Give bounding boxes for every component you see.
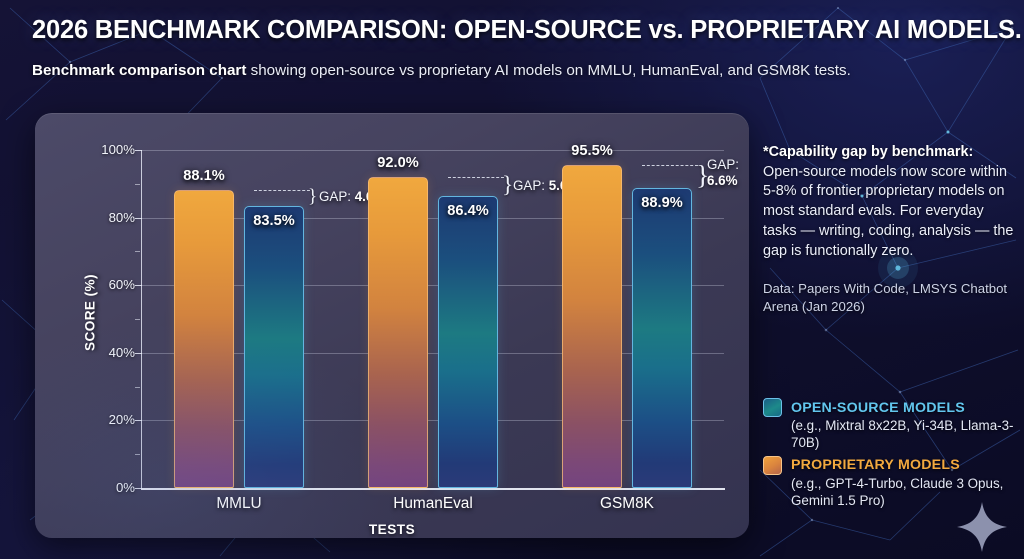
y-tick-minor bbox=[135, 184, 140, 185]
y-axis-tick-label: 60% bbox=[109, 277, 135, 292]
page-subtitle: Benchmark comparison chart showing open-… bbox=[32, 62, 1012, 79]
capability-gap-note: *Capability gap by benchmark: Open-sourc… bbox=[763, 143, 1015, 261]
bar-value-label: 88.9% bbox=[641, 195, 682, 211]
y-axis-tick-label: 100% bbox=[101, 142, 135, 157]
bar-prop-gsm8k[interactable]: 95.5% bbox=[562, 165, 622, 488]
plot-area: 88.1%83.5%}GAP: 4.6%92.0%86.4%}GAP: 5.6%… bbox=[142, 150, 724, 488]
y-tick-minor bbox=[135, 251, 140, 252]
gap-dashed-line bbox=[254, 190, 310, 191]
bar-value-label: 83.5% bbox=[253, 213, 294, 229]
bar-prop-humaneval[interactable]: 92.0% bbox=[368, 177, 428, 488]
y-tick-major bbox=[135, 285, 142, 286]
y-tick-major bbox=[135, 420, 142, 421]
chart-legend: OPEN-SOURCE MODELS(e.g., Mixtral 8x22B, … bbox=[763, 398, 1019, 514]
bar-value-label: 92.0% bbox=[377, 155, 418, 171]
gap-annotation: GAP:6.6% bbox=[707, 157, 739, 189]
gap-dashed-line bbox=[448, 177, 504, 178]
legend-swatch-icon bbox=[763, 398, 782, 417]
gap-label-text: GAP: bbox=[319, 189, 355, 204]
chart-panel: SCORE (%) 0%20%40%60%80%100% 88.1%83.5%}… bbox=[35, 113, 749, 538]
legend-entry[interactable]: OPEN-SOURCE MODELS(e.g., Mixtral 8x22B, … bbox=[763, 398, 1019, 452]
gap-dashed-line bbox=[642, 165, 698, 166]
y-tick-major bbox=[135, 150, 142, 151]
capability-gap-note-body: Open-source models now score within 5-8%… bbox=[763, 164, 1013, 259]
y-tick-minor bbox=[135, 454, 140, 455]
gridline bbox=[142, 150, 724, 151]
side-note-panel: *Capability gap by benchmark: Open-sourc… bbox=[763, 143, 1015, 316]
y-axis-labels: 0%20%40%60%80%100% bbox=[83, 113, 135, 538]
x-axis-title: TESTS bbox=[35, 522, 749, 537]
y-axis-tick-label: 80% bbox=[109, 210, 135, 225]
legend-title: OPEN-SOURCE MODELS bbox=[791, 400, 965, 416]
gap-brace-icon: } bbox=[502, 174, 513, 193]
header-block: 2026 BENCHMARK COMPARISON: OPEN-SOURCE v… bbox=[32, 16, 1012, 79]
gap-brace-icon: } bbox=[308, 187, 317, 203]
y-tick-major bbox=[135, 488, 142, 489]
x-axis-tick-label-humaneval: HumanEval bbox=[393, 495, 473, 513]
bar-prop-mmlu[interactable]: 88.1% bbox=[174, 190, 234, 488]
y-axis-tick-label: 20% bbox=[109, 412, 135, 427]
gap-label-text: GAP: bbox=[513, 178, 549, 193]
x-axis-line bbox=[141, 488, 725, 490]
gap-value-text: 6.6% bbox=[707, 173, 738, 188]
capability-gap-note-lead: *Capability gap by benchmark: bbox=[763, 144, 973, 160]
x-axis-tick-label-mmlu: MMLU bbox=[216, 495, 261, 513]
gap-label-text: GAP: bbox=[707, 157, 739, 172]
bar-value-label: 88.1% bbox=[183, 168, 224, 184]
legend-title: PROPRIETARY MODELS bbox=[791, 457, 960, 473]
y-axis-tick-label: 0% bbox=[116, 480, 135, 495]
y-tick-minor bbox=[135, 319, 140, 320]
legend-examples: (e.g., Mixtral 8x22B, Yi-34B, Llama-3-70… bbox=[791, 417, 1019, 452]
subtitle-rest: showing open-source vs proprietary AI mo… bbox=[246, 62, 850, 79]
legend-swatch-icon bbox=[763, 456, 782, 475]
y-tick-major bbox=[135, 353, 142, 354]
four-point-star-icon bbox=[955, 500, 1009, 554]
y-axis-tick-label: 40% bbox=[109, 345, 135, 360]
y-tick-major bbox=[135, 218, 142, 219]
x-axis-tick-label-gsm8k: GSM8K bbox=[600, 495, 654, 513]
bar-open-gsm8k[interactable]: 88.9% bbox=[632, 188, 692, 488]
bar-value-label: 95.5% bbox=[571, 143, 612, 159]
bar-open-humaneval[interactable]: 86.4% bbox=[438, 196, 498, 488]
y-tick-minor bbox=[135, 387, 140, 388]
page-title: 2026 BENCHMARK COMPARISON: OPEN-SOURCE v… bbox=[32, 16, 1012, 45]
bar-open-mmlu[interactable]: 83.5% bbox=[244, 206, 304, 488]
data-source-note: Data: Papers With Code, LMSYS Chatbot Ar… bbox=[763, 280, 1015, 315]
bar-value-label: 86.4% bbox=[447, 203, 488, 219]
subtitle-emphasis: Benchmark comparison chart bbox=[32, 62, 246, 79]
